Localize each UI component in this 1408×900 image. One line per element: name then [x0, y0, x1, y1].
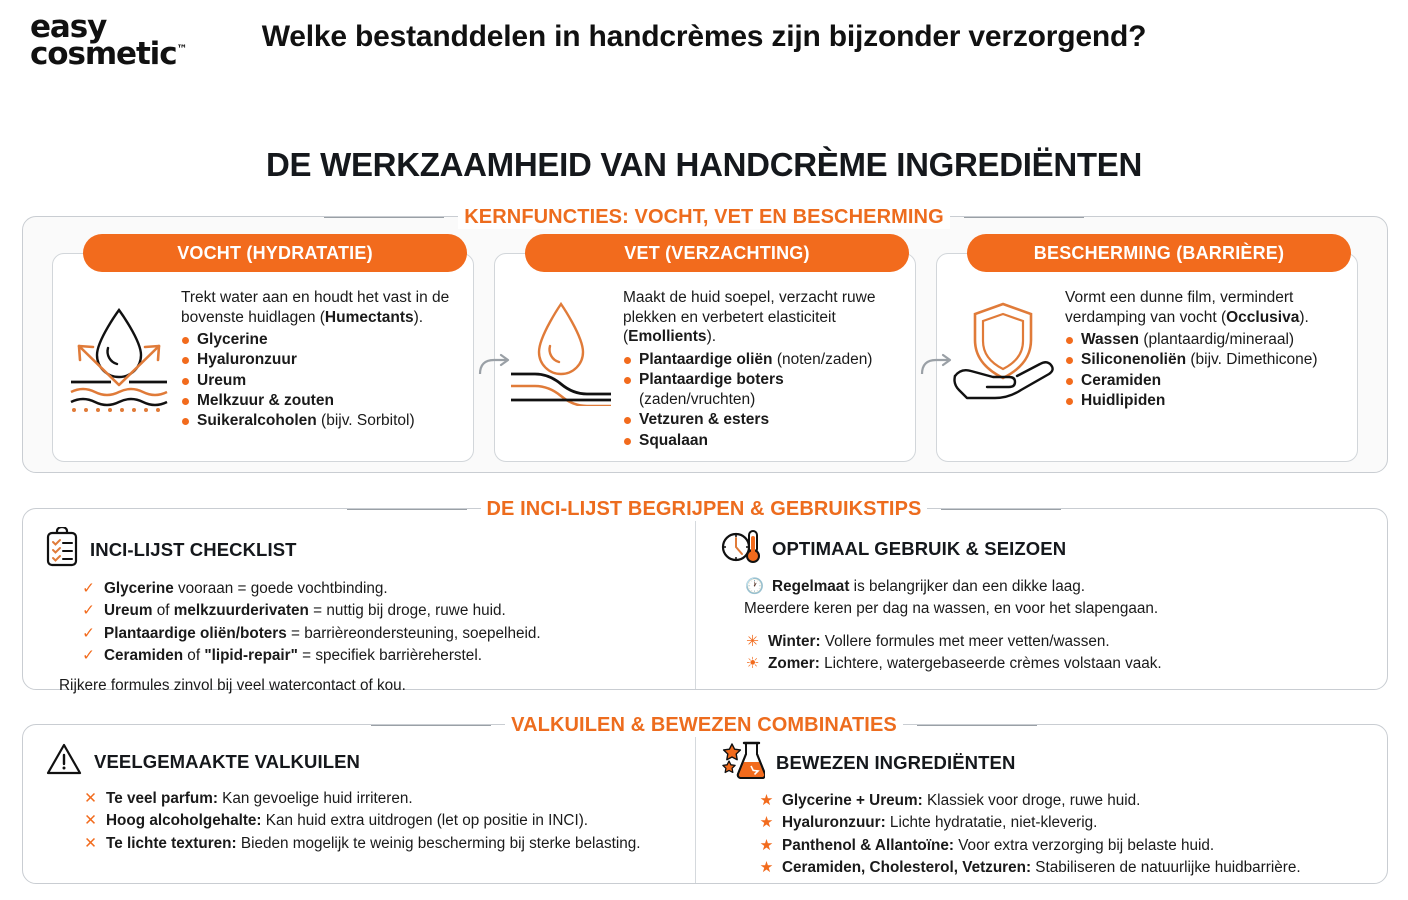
- check-icon: ✓: [81, 601, 96, 621]
- usage-list: 🕐Regelmaat is belangrijker dan een dikke…: [745, 577, 1361, 597]
- warning-triangle-icon: [45, 741, 83, 782]
- panel-divider: [695, 725, 696, 883]
- inci-checklist-block: INCI-LIJST CHECKLIST ✓Glycerine vooraan …: [45, 527, 675, 695]
- clock-thermometer-icon: [721, 527, 761, 570]
- check-icon: ✓: [81, 646, 96, 666]
- pitfalls-header: VEELGEMAAKTE VALKUILEN: [45, 741, 685, 782]
- card-vet-list: Plantaardige oliën (noten/zaden) Plantaa…: [623, 350, 903, 451]
- proven-title: BEWEZEN INGREDIËNTEN: [776, 752, 1015, 774]
- list-item: ✕Hoog alcoholgehalte: Kan huid extra uit…: [83, 811, 685, 831]
- list-item: Suikeralcoholen (bijv. Sorbitol): [181, 411, 461, 431]
- pitfalls-block: VEELGEMAAKTE VALKUILEN ✕Te veel parfum: …: [45, 741, 685, 856]
- list-item: Huidlipiden: [1065, 391, 1345, 411]
- section-title-pitfalls: VALKUILEN & BEWEZEN COMBINATIES: [505, 714, 903, 737]
- section-title-inci: DE INCI-LIJST BEGRIJPEN & GEBRUIKSTIPS: [481, 498, 928, 521]
- list-item: ★Panthenol & Allantoïne: Voor extra verz…: [759, 836, 1371, 856]
- list-item: Siliconenoliën (bijv. Dimethicone): [1065, 350, 1345, 370]
- proven-header: BEWEZEN INGREDIËNTEN: [721, 741, 1371, 784]
- cross-icon: ✕: [83, 811, 98, 831]
- inci-checklist-list: ✓Glycerine vooraan = goede vochtbinding.…: [81, 579, 675, 666]
- card-bescherming-lead: Vormt een dunne film, vermindert verdamp…: [1065, 288, 1345, 327]
- card-bescherming-list: Wassen (plantaardig/mineraal) Siliconeno…: [1065, 330, 1345, 411]
- card-vocht-pill: VOCHT (HYDRATATIE): [83, 234, 467, 272]
- arrow-connector-2: [920, 352, 956, 378]
- list-item: Plantaardige boters (zaden/vruchten): [623, 370, 903, 411]
- band-rule-left: [347, 509, 467, 510]
- list-item: ★Hyaluronzuur: Lichte hydratatie, niet-k…: [759, 813, 1371, 833]
- list-item: Melkzuur & zouten: [181, 391, 461, 411]
- star-icon: ★: [759, 858, 774, 878]
- pitfalls-panel: VEELGEMAAKTE VALKUILEN ✕Te veel parfum: …: [22, 724, 1388, 884]
- card-vet-pill: VET (VERZACHTING): [525, 234, 909, 272]
- list-item: ✕Te lichte texturen: Bieden mogelijk te …: [83, 834, 685, 854]
- infographic-page: easy cosmetic™ Welke bestanddelen in han…: [0, 0, 1408, 900]
- section-band-inci: DE INCI-LIJST BEGRIJPEN & GEBRUIKSTIPS: [0, 498, 1408, 521]
- list-item: ✳Winter: Vollere formules met meer vette…: [745, 632, 1361, 652]
- list-item: ★Glycerine + Ureum: Klassiek voor droge,…: [759, 791, 1371, 811]
- inci-panel: INCI-LIJST CHECKLIST ✓Glycerine vooraan …: [22, 508, 1388, 690]
- list-item: ✓Ceramiden of "lipid-repair" = specifiek…: [81, 646, 675, 666]
- clock-icon: 🕐: [745, 577, 764, 597]
- star-icon: ★: [759, 836, 774, 856]
- check-icon: ✓: [81, 624, 96, 644]
- panel-divider: [695, 509, 696, 689]
- band-rule-right: [964, 217, 1084, 218]
- list-item: Vetzuren & esters: [623, 410, 903, 430]
- water-drop-absorption-icon: [65, 288, 173, 432]
- star-icon: ★: [759, 791, 774, 811]
- star-icon: ★: [759, 813, 774, 833]
- section-title-core: KERNFUNCTIES: VOCHT, VET EN BESCHERMING: [458, 206, 950, 229]
- card-bescherming[interactable]: BESCHERMING (BARRIÈRE) Vormt een dunne f…: [936, 253, 1358, 462]
- list-item: Plantaardige oliën (noten/zaden): [623, 350, 903, 370]
- pitfalls-list: ✕Te veel parfum: Kan gevoelige huid irri…: [83, 789, 685, 854]
- inci-checklist-title: INCI-LIJST CHECKLIST: [90, 539, 297, 561]
- clipboard-checklist-icon: [45, 527, 79, 572]
- page-header: easy cosmetic™ Welke bestanddelen in han…: [0, 0, 1408, 92]
- band-rule-right: [917, 725, 1037, 726]
- list-item: Hyaluronzuur: [181, 350, 461, 370]
- cross-icon: ✕: [83, 834, 98, 854]
- card-bescherming-pill: BESCHERMING (BARRIÈRE): [967, 234, 1351, 272]
- check-icon: ✓: [81, 579, 96, 599]
- band-rule-left: [371, 725, 491, 726]
- list-item: Glycerine: [181, 330, 461, 350]
- list-item: ✓Plantaardige oliën/boters = barrièreond…: [81, 624, 675, 644]
- list-item: Wassen (plantaardig/mineraal): [1065, 330, 1345, 350]
- pitfalls-title: VEELGEMAAKTE VALKUILEN: [94, 751, 360, 773]
- usage-subline: Meerdere keren per dag na wassen, en voo…: [744, 599, 1361, 619]
- flask-stars-icon: [721, 741, 765, 784]
- card-vocht-lead: Trekt water aan en houdt het vast in de …: [181, 288, 461, 327]
- list-item: ☀Zomer: Lichtere, watergebaseerde crèmes…: [745, 654, 1361, 674]
- card-vocht-list: Glycerine Hyaluronzuur Ureum Melkzuur & …: [181, 330, 461, 431]
- usage-title: OPTIMAAL GEBRUIK & SEIZOEN: [772, 538, 1066, 560]
- inci-checklist-header: INCI-LIJST CHECKLIST: [45, 527, 675, 572]
- card-vet-lead: Maakt de huid soepel, verzacht ruwe plek…: [623, 288, 903, 347]
- sun-icon: ☀: [745, 654, 760, 674]
- snowflake-icon: ✳: [745, 632, 760, 652]
- inci-checklist-note: Rijkere formules zinvol bij veel waterco…: [59, 677, 675, 695]
- band-rule-right: [941, 509, 1061, 510]
- list-item: ✕Te veel parfum: Kan gevoelige huid irri…: [83, 789, 685, 809]
- section-band-core: KERNFUNCTIES: VOCHT, VET EN BESCHERMING: [0, 206, 1408, 229]
- card-vet[interactable]: VET (VERZACHTING) Maakt de huid soepel, …: [494, 253, 916, 462]
- list-item: Ceramiden: [1065, 371, 1345, 391]
- page-title: DE WERKZAAMHEID VAN HANDCRÈME INGREDIËNT…: [0, 146, 1408, 184]
- shield-hand-protection-icon: [949, 288, 1057, 411]
- usage-header: OPTIMAAL GEBRUIK & SEIZOEN: [721, 527, 1361, 570]
- arrow-connector-1: [478, 352, 514, 378]
- list-item: 🕐Regelmaat is belangrijker dan een dikke…: [745, 577, 1361, 597]
- cross-icon: ✕: [83, 789, 98, 809]
- proven-list: ★Glycerine + Ureum: Klassiek voor droge,…: [759, 791, 1371, 878]
- list-item: ★Ceramiden, Cholesterol, Vetzuren: Stabi…: [759, 858, 1371, 878]
- proven-block: BEWEZEN INGREDIËNTEN ★Glycerine + Ureum:…: [721, 741, 1371, 880]
- list-item: Ureum: [181, 371, 461, 391]
- page-question-title: Welke bestanddelen in handcrèmes zijn bi…: [0, 20, 1408, 54]
- season-list: ✳Winter: Vollere formules met meer vette…: [745, 632, 1361, 675]
- section-band-pitfalls: VALKUILEN & BEWEZEN COMBINATIES: [0, 714, 1408, 737]
- card-vocht[interactable]: VOCHT (HYDRATATIE): [52, 253, 474, 462]
- usage-block: OPTIMAAL GEBRUIK & SEIZOEN 🕐Regelmaat is…: [721, 527, 1361, 676]
- list-item: Squalaan: [623, 431, 903, 451]
- oil-drop-smooth-skin-icon: [507, 288, 615, 451]
- list-item: ✓Ureum of melkzuurderivaten = nuttig bij…: [81, 601, 675, 621]
- list-item: ✓Glycerine vooraan = goede vochtbinding.: [81, 579, 675, 599]
- band-rule-left: [324, 217, 444, 218]
